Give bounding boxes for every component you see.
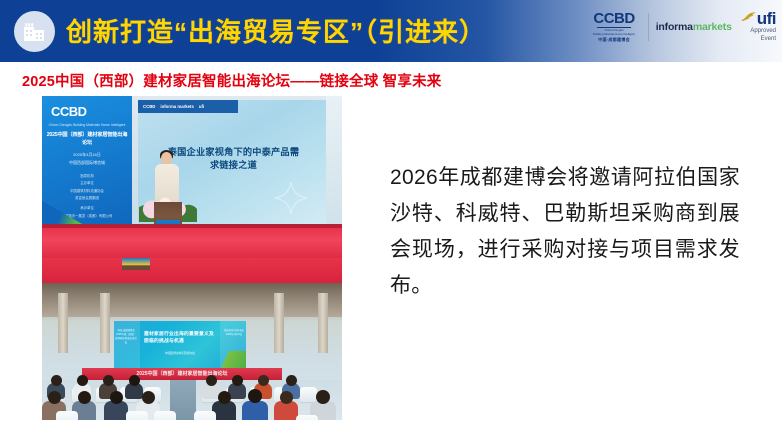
- ufi-logo-line1: Approved: [750, 28, 776, 36]
- ufi-logo-mark: ufi: [757, 12, 776, 26]
- audience-chair: [56, 411, 78, 420]
- audience-person-head: [218, 391, 231, 404]
- forum-audience-photo: 中国·成都建博会 2025中国（西部）建材家居智能出海论坛 链接全球 智享未来 …: [42, 258, 342, 420]
- stage-screen-subtitle: 中国建筑材料流通协会: [144, 351, 216, 356]
- audience-chair: [126, 411, 148, 420]
- ufi-swoosh-icon: [740, 11, 757, 27]
- page-title: 创新打造“出海贸易专区”（引进来）: [66, 12, 486, 49]
- audience-person-head: [286, 375, 297, 386]
- informa-logo-part1: informa: [656, 21, 693, 33]
- backdrop-org-label2: 主办单位: [48, 181, 126, 187]
- logo-divider: [648, 13, 649, 41]
- hall-column: [100, 293, 110, 353]
- backdrop-org-label1: 指导机构: [48, 174, 126, 180]
- forum-speaker-photo: CCBD China Chengdu Building Materials Ho…: [42, 96, 342, 258]
- ccbd-logo: CCBD China Chengdu Building Materials Ho…: [593, 11, 640, 43]
- podium-top-fragment: [122, 258, 150, 270]
- event-backdrop-banner: CCBD China Chengdu Building Materials Ho…: [42, 96, 132, 231]
- hall-column: [318, 293, 328, 353]
- backdrop-date: 2025年4月16日: [48, 152, 126, 158]
- audience-person-head: [110, 391, 123, 404]
- informa-markets-logo: informamarkets: [656, 21, 732, 33]
- factory-building-icon: [14, 11, 55, 52]
- presentation-slide-title: 泰国企业家视角下的中泰产品需求链接之道: [166, 146, 301, 173]
- screen-side-text-left: 中国·成都建博会 2025中国（西部）建材家居智能出海论坛: [115, 329, 137, 344]
- audience-person-head: [77, 375, 88, 386]
- ccbd-logo-mark: CCBD: [593, 11, 634, 26]
- backdrop-org1: 中国建筑材料流通协会: [48, 189, 126, 195]
- screen-decorative-glyph: [274, 181, 308, 215]
- hall-column: [274, 293, 284, 353]
- audience-person-head: [206, 375, 217, 386]
- screen-logo-ccbd: CCBD: [143, 104, 155, 109]
- backdrop-org-label3: 承办单位: [48, 206, 126, 212]
- ccbd-logo-cn: 中国·成都建博会: [598, 37, 630, 43]
- audience-person-head: [316, 390, 330, 404]
- backdrop-en-line: China Chengdu Building Materials Home In…: [48, 123, 126, 128]
- hall-right-wall: [326, 96, 342, 228]
- audience-person-head: [280, 391, 293, 404]
- exhibition-hall: 中国·成都建博会 2025中国（西部）建材家居智能出海论坛 链接全球 智享未来 …: [42, 283, 342, 420]
- hall-column: [58, 293, 68, 353]
- audience-chair: [296, 415, 318, 420]
- backdrop-org2: 英富曼会展集团: [48, 196, 126, 202]
- hall-ceiling: [42, 283, 342, 317]
- informa-logo-part2: markets: [693, 21, 732, 33]
- red-stage-carpet: [42, 228, 342, 258]
- photo-column: CCBD China Chengdu Building Materials Ho…: [42, 96, 342, 420]
- screen-logo-ufi: ufi: [199, 104, 204, 109]
- audience-chair: [154, 411, 176, 420]
- backdrop-cn-line1: 2025中国（西部）建材家居智能出海论坛: [46, 132, 128, 148]
- stage-screen-title: 建材家居行业出海的重要意义及面临的挑战与机遇: [144, 331, 216, 345]
- audience-person-head: [103, 375, 114, 386]
- screen-logo-informa: informa markets: [160, 104, 193, 109]
- ccbd-logo-rule: [597, 27, 631, 28]
- logo-cluster: CCBD China Chengdu Building Materials Ho…: [593, 9, 776, 45]
- slide-header: 创新打造“出海贸易专区”（引进来） CCBD China Chengdu Bui…: [0, 0, 782, 62]
- screen-left-panel: 中国·成都建博会 2025中国（西部）建材家居智能出海论坛: [114, 321, 140, 368]
- audience-person-head: [78, 391, 91, 404]
- audience-person-head: [51, 375, 62, 386]
- screen-green-corner: [212, 351, 246, 368]
- forum-subtitle: 2025中国（西部）建材家居智能出海论坛——链接全球 智享未来: [22, 70, 441, 91]
- audience-person: [242, 401, 268, 420]
- audience-person-head: [232, 375, 243, 386]
- main-stage-led-screen: 中国·成都建博会 2025中国（西部）建材家居智能出海论坛 链接全球 智享未来 …: [114, 321, 246, 368]
- audience-photo-top-red-band: [42, 258, 342, 283]
- audience-person-head: [248, 389, 262, 403]
- ufi-approved-event-logo: ufi Approved Event: [740, 11, 776, 44]
- ccbd-logo-en-line2: Building Materials Home Intelligent: [593, 32, 635, 36]
- ufi-logo-line2: Event: [761, 36, 776, 44]
- audience-person-head: [142, 391, 155, 404]
- audience-person-head: [258, 375, 269, 386]
- audience-person-head: [48, 391, 61, 404]
- backdrop-ccbd-logo: CCBD: [51, 104, 87, 119]
- audience-chair: [300, 387, 317, 402]
- screen-top-logobar: CCBD informa markets ufi: [138, 100, 238, 113]
- backdrop-venue: 中国西部国际博览城: [48, 160, 126, 166]
- audience-chair: [194, 411, 216, 420]
- slide-body-text: 2026年成都建博会将邀请阿拉伯国家沙特、科威特、巴勒斯坦采购商到展会现场，进行…: [390, 160, 740, 304]
- screen-side-text-right: 链接全球 智享未来 2025年4月16日: [223, 329, 245, 337]
- audience-person-head: [129, 375, 140, 386]
